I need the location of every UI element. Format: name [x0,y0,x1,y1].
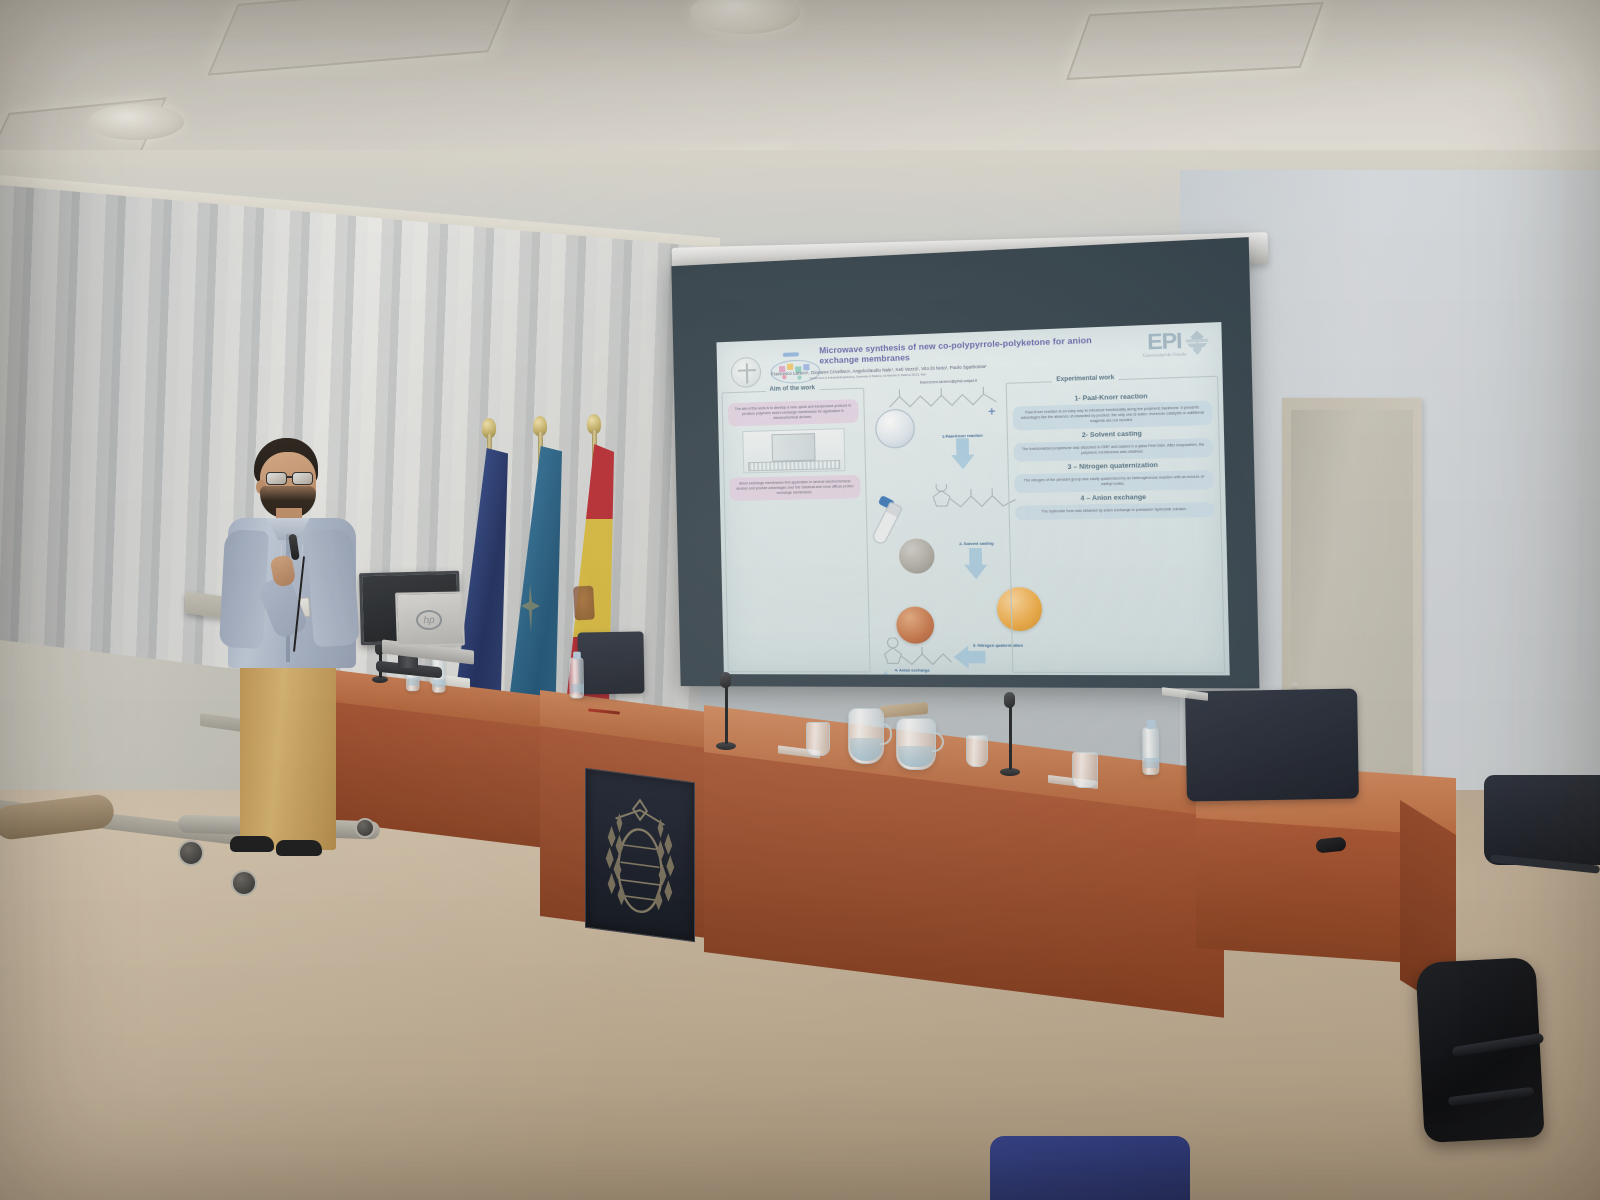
table-microphone[interactable] [720,672,731,688]
arrow-step-2-label: 2- Solvent casting [934,541,1019,547]
quaternized-membrane-image [899,538,935,573]
university-crest-plaque [585,768,695,942]
arrow-step-2-icon [964,548,988,579]
device-schematic-figure [743,428,846,473]
university-seal-icon [731,357,762,388]
asturias-cross-emblem-icon [518,580,544,636]
chair-behind-table[interactable] [577,631,644,694]
eyeglasses-icon [266,472,318,485]
chair-at-dais[interactable] [1185,689,1359,802]
podium-caster-wheel [231,870,257,896]
research-group-logo [769,350,822,386]
reagent-flask-image [875,409,915,449]
presenter-shoe [230,836,274,852]
sample-vial-image [871,501,904,546]
microphone-stem [725,686,728,744]
aim-legend: Aim of the work [765,385,819,393]
step-3-text: The nitrogen of the pendant group was ea… [1014,470,1214,493]
water-pitcher[interactable] [848,708,884,764]
reaction-scheme-column: + 1-Paal-Knorr reaction [868,383,1008,673]
presenter-shoe [276,840,322,856]
drinking-glass[interactable] [1072,752,1098,788]
water-bottle[interactable] [569,657,584,698]
experimental-legend: Experimental work [1052,375,1119,384]
step-1-text: Paal-Knorr reaction is an easy way to in… [1012,400,1212,430]
plus-sign-icon: + [988,404,996,419]
audience-chair-foreground[interactable] [990,1136,1190,1200]
oviedo-coat-of-arms [596,780,684,930]
epi-logo: EPI Universidad de Oviedo [1143,332,1187,358]
microphone-stem [1009,706,1012,770]
podium-caster-wheel [178,840,204,866]
arrow-step-3-icon [953,646,985,669]
conference-room-photo: Microwave synthesis of new co-polypyrrol… [0,0,1600,1200]
membrane-structure-strip [748,460,840,471]
arrow-step-1-icon [951,438,975,470]
arrow-step-1-label: 1-Paal-Knorr reaction [930,433,996,440]
epi-logo-text: EPI [1143,332,1187,353]
slide-body: Aim of the work The aim of the work is t… [722,376,1226,674]
slide-content: Microwave synthesis of new co-polypyrrol… [716,322,1229,675]
aim-bubble-top: The aim of the work is to develop a new,… [728,399,859,427]
drinking-glass[interactable] [806,722,830,756]
hp-logo-icon: hp [416,610,443,630]
presenter-right-arm [306,529,360,648]
aim-of-the-work-panel: Aim of the work The aim of the work is t… [722,388,871,673]
presenter [214,438,364,858]
epi-logo-subtitle: Universidad de Oviedo [1143,351,1186,358]
experimental-work-panel: Experimental work 1- Paal-Knorr reaction… [1006,376,1226,674]
presenter-trousers [240,660,336,850]
drinking-glass[interactable] [966,735,988,767]
table-microphone[interactable] [1004,692,1015,708]
laptop[interactable]: hp [395,591,465,646]
arrow-step-4-label: 4- Anion exchange [889,668,935,673]
water-bottle[interactable] [1142,727,1160,775]
projector-screen: Microwave synthesis of new co-polypyrrol… [671,237,1259,688]
water-pitcher[interactable] [896,718,936,770]
step-4-text: The hydroxide form was obtained by anion… [1015,503,1215,520]
step-2-text: The functionalized polyketone was dissol… [1013,438,1213,462]
office-chair-right[interactable] [1484,775,1600,865]
oviedo-crest-icon [1181,329,1213,358]
projected-slide: Microwave synthesis of new co-polypyrrol… [716,322,1229,675]
electrochemical-cell-diagram [771,433,815,462]
spain-coat-of-arms-icon [573,585,595,620]
aim-bubble-bottom: Anion exchange membranes find applicatio… [729,475,860,501]
